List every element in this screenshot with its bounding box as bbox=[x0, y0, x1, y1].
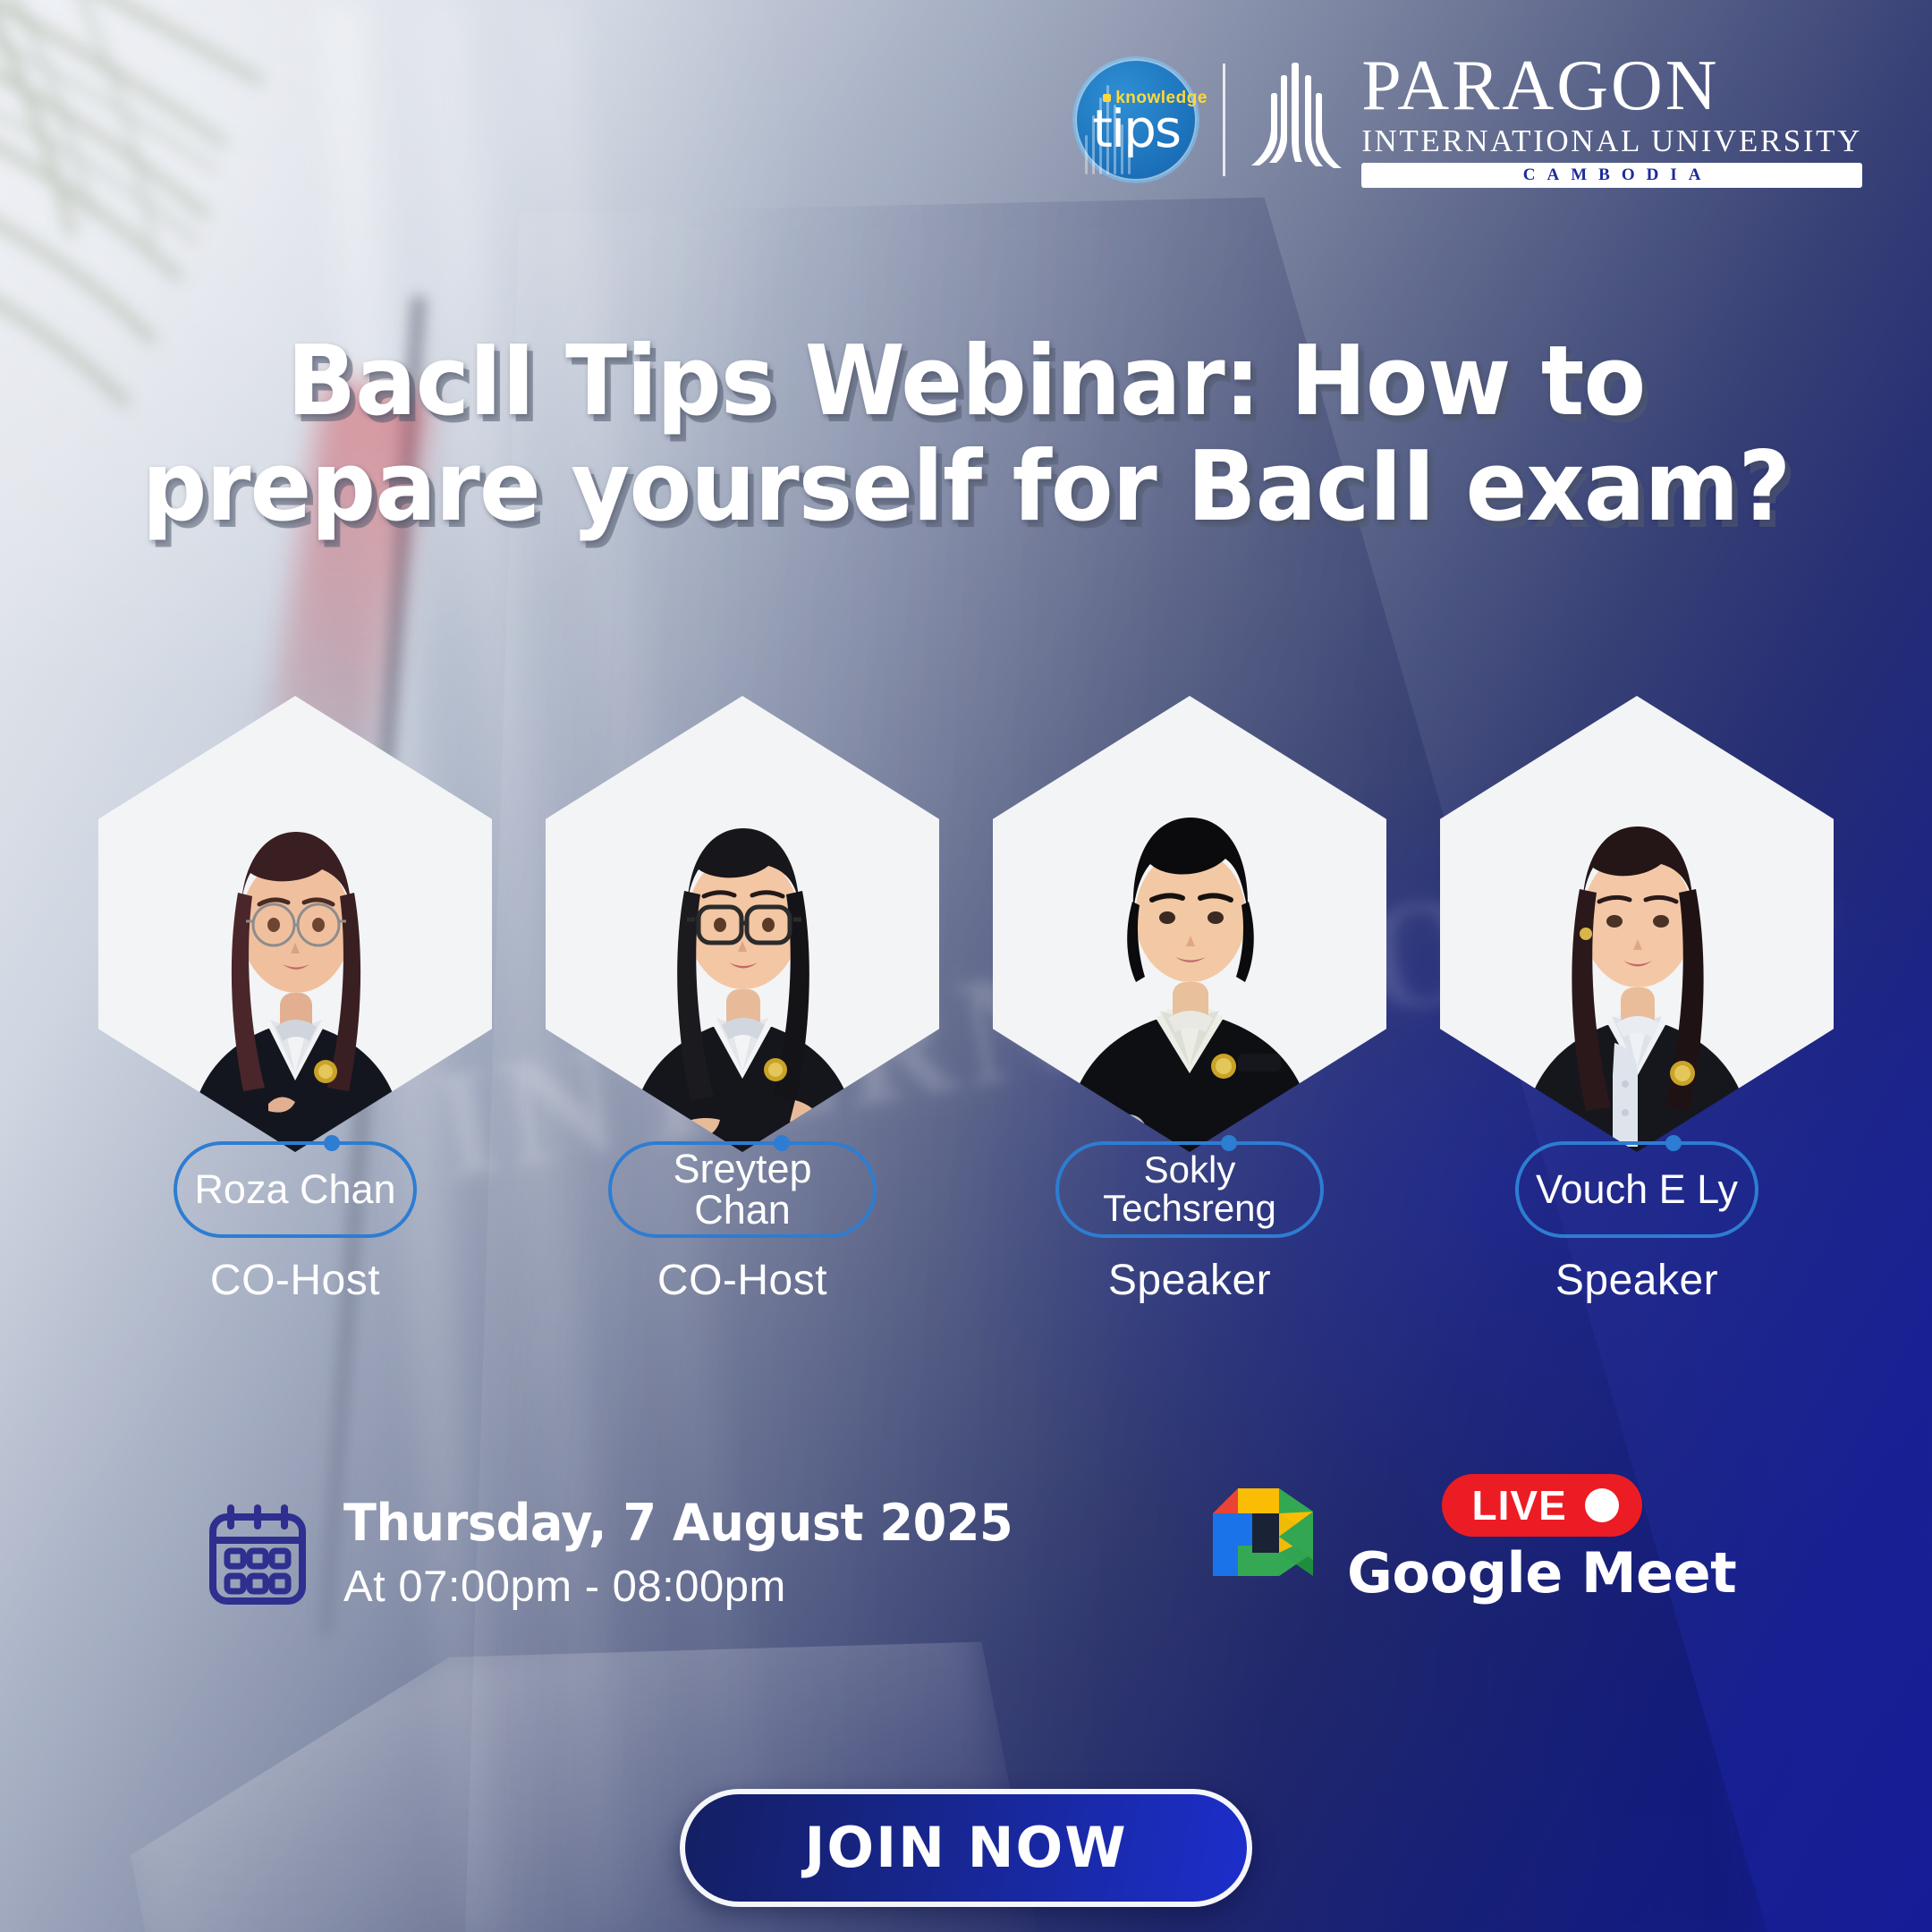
speaker-role: Speaker bbox=[1108, 1256, 1271, 1305]
title-line-2: prepare yourself for BacII exam? bbox=[133, 435, 1798, 540]
speaker-card: Sreytep Chan CO-Host bbox=[534, 696, 951, 1411]
university-country: CAMBODIA bbox=[1361, 163, 1862, 188]
speaker-name: Sokly Techsreng bbox=[1073, 1151, 1306, 1228]
speaker-name: Roza Chan bbox=[194, 1169, 395, 1210]
title-line-1: BacII Tips Webinar: How to bbox=[287, 326, 1646, 437]
portrait-roza-chan bbox=[134, 758, 456, 1152]
university-name: PARAGON bbox=[1361, 52, 1862, 121]
speaker-list: Roza Chan CO-Host bbox=[0, 696, 1932, 1411]
hexagon-frame bbox=[993, 696, 1386, 1152]
badge-dot-icon bbox=[324, 1135, 340, 1151]
portrait-sokly-techsreng bbox=[1020, 758, 1360, 1152]
speaker-role: Speaker bbox=[1555, 1256, 1718, 1305]
speaker-name-badge: Sokly Techsreng bbox=[1055, 1141, 1324, 1238]
speaker-name-badge: Roza Chan bbox=[174, 1141, 417, 1238]
brand-logo-bar: knowledge tips PARAGON INTERNATIONAL UNI… bbox=[1072, 52, 1862, 188]
speaker-card: Roza Chan CO-Host bbox=[87, 696, 504, 1411]
live-badge: LIVE bbox=[1442, 1474, 1642, 1537]
page-title: BacII Tips Webinar: How to prepare yours… bbox=[133, 329, 1798, 539]
speaker-role: CO-Host bbox=[657, 1256, 827, 1305]
hexagon-frame bbox=[1440, 696, 1834, 1152]
speaker-name-badge: Vouch E Ly bbox=[1515, 1141, 1758, 1238]
paragon-spires-icon bbox=[1249, 61, 1347, 179]
event-datetime: Thursday, 7 August 2025 At 07:00pm - 08:… bbox=[208, 1496, 1048, 1614]
google-meet-icon bbox=[1206, 1481, 1320, 1594]
badge-dot-icon bbox=[774, 1135, 790, 1151]
portrait-sreytep-chan bbox=[577, 758, 908, 1152]
university-subtitle: INTERNATIONAL UNIVERSITY bbox=[1361, 125, 1862, 157]
hexagon-frame bbox=[546, 696, 939, 1152]
calendar-icon bbox=[208, 1504, 308, 1606]
event-time: At 07:00pm - 08:00pm bbox=[343, 1560, 1048, 1614]
speaker-name: Sreytep Chan bbox=[626, 1148, 859, 1231]
live-dot-icon bbox=[1585, 1488, 1619, 1522]
event-date: Thursday, 7 August 2025 bbox=[343, 1496, 1013, 1553]
platform-name: Google Meet bbox=[1347, 1546, 1736, 1601]
avatar bbox=[993, 696, 1386, 1152]
speaker-role: CO-Host bbox=[210, 1256, 380, 1305]
speaker-name: Vouch E Ly bbox=[1536, 1169, 1738, 1210]
badge-dot-icon bbox=[1665, 1135, 1682, 1151]
avatar bbox=[546, 696, 939, 1152]
live-label: LIVE bbox=[1472, 1485, 1567, 1526]
portrait-vouch-e-ly bbox=[1471, 758, 1802, 1152]
speaker-card: Vouch E Ly Speaker bbox=[1428, 696, 1845, 1411]
speaker-name-badge: Sreytep Chan bbox=[608, 1141, 877, 1238]
platform-block: LIVE Google Meet bbox=[1206, 1474, 1736, 1601]
knowledge-tips-logo: knowledge tips bbox=[1072, 56, 1199, 183]
avatar bbox=[1440, 696, 1834, 1152]
logo-divider bbox=[1223, 64, 1225, 176]
join-now-label: JOIN NOW bbox=[804, 1820, 1127, 1876]
speaker-card: Sokly Techsreng Speaker bbox=[981, 696, 1398, 1411]
paragon-university-logo: PARAGON INTERNATIONAL UNIVERSITY CAMBODI… bbox=[1249, 52, 1862, 188]
avatar bbox=[98, 696, 492, 1152]
badge-dot-icon bbox=[1221, 1135, 1237, 1151]
join-now-button[interactable]: JOIN NOW bbox=[680, 1789, 1252, 1907]
webinar-poster: INTERNATIONAL bbox=[0, 0, 1932, 1932]
hexagon-frame bbox=[98, 696, 492, 1152]
logo-wordmark: tips bbox=[1072, 103, 1199, 155]
